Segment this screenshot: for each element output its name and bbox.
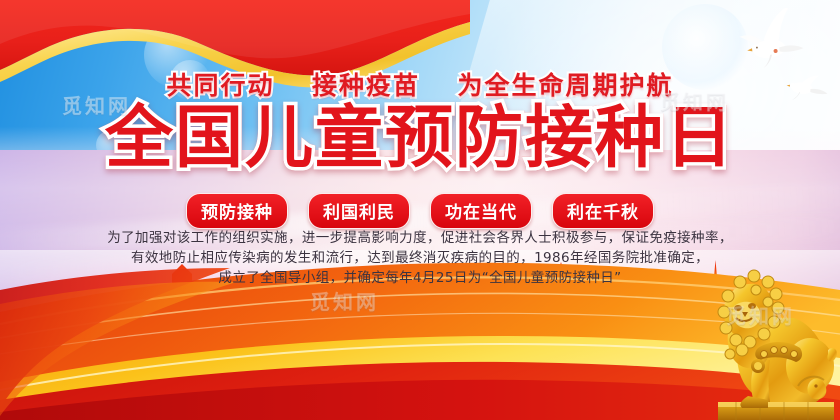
body-line: 有效地防止相应传染病的发生和流行，达到最终消灭疾病的目的，1986年经国务院批准… — [0, 248, 840, 268]
poster-canvas: 共同行动 接种疫苗 为全生命周期护航 全国儿童预防接种日 预防接种 利国利民 功… — [0, 0, 840, 420]
slogan-badge[interactable]: 利国利民 — [308, 193, 410, 229]
page-title: 全国儿童预防接种日 — [0, 105, 840, 173]
slogan-badge[interactable]: 利在千秋 — [552, 193, 654, 229]
subtitle: 共同行动 接种疫苗 为全生命周期护航 — [0, 66, 840, 102]
slogan-badge-group: 预防接种 利国利民 功在当代 利在千秋 — [0, 193, 840, 229]
subtitle-part: 共同行动 — [167, 66, 275, 102]
body-line: 成立了全国导小组，并确定每年4月25日为“全国儿童预防接种日” — [0, 268, 840, 288]
subtitle-part: 接种疫苗 — [312, 66, 420, 102]
slogan-badge[interactable]: 功在当代 — [430, 193, 532, 229]
body-line: 为了加强对该工作的组织实施，进一步提高影响力度，促进社会各界人士积极参与，保证免… — [0, 228, 840, 248]
body-paragraph: 为了加强对该工作的组织实施，进一步提高影响力度，促进社会各界人士积极参与，保证免… — [0, 228, 840, 288]
subtitle-part: 为全生命周期护航 — [457, 66, 673, 102]
dove-icon — [736, 8, 805, 71]
slogan-badge[interactable]: 预防接种 — [186, 193, 288, 229]
